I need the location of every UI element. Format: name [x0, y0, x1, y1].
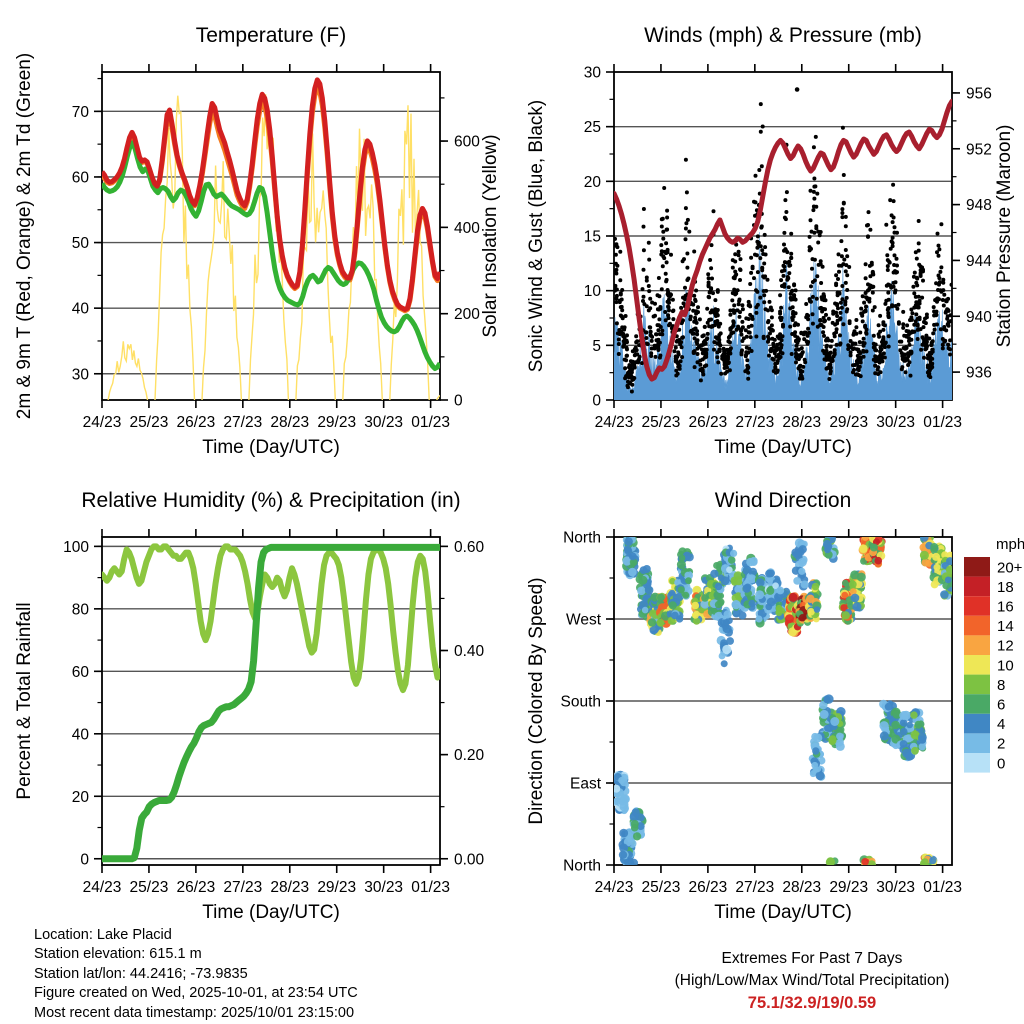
gust-point [883, 323, 887, 327]
gust-point [930, 348, 934, 352]
y-right-tick-label: 0.00 [454, 851, 485, 868]
legend-label: 2 [997, 736, 1005, 753]
gust-point [835, 314, 839, 318]
gust-point [939, 265, 943, 269]
gust-point [701, 373, 705, 377]
legend-swatch [964, 714, 990, 734]
gust-point [858, 331, 862, 335]
wind-direction-point [776, 605, 783, 612]
gust-point [904, 370, 908, 374]
x-tick-label: 30/23 [876, 414, 915, 431]
wind-direction-point [642, 607, 649, 614]
chart-title: Wind Direction [715, 489, 852, 512]
gust-point [891, 236, 895, 240]
legend-swatch [964, 557, 990, 577]
gust-point [900, 365, 904, 369]
gust-point [794, 348, 798, 352]
gust-point [779, 278, 783, 282]
y-tick-label: 80 [72, 601, 90, 618]
gust-point [821, 349, 825, 353]
legend-swatch [964, 577, 990, 597]
gust-point [707, 295, 711, 299]
y-right-tick-label: 948 [966, 197, 992, 214]
legend-swatch [964, 675, 990, 695]
gust-point [752, 276, 756, 280]
wind-direction-point [842, 611, 850, 619]
wind-direction-point [619, 829, 628, 838]
gust-point [854, 325, 858, 329]
gust-point [763, 245, 767, 249]
gust-point [754, 174, 758, 178]
gust-point [823, 307, 827, 311]
gust-point [946, 343, 950, 347]
gust-point [887, 298, 891, 302]
gust-point [756, 303, 760, 307]
gust-point [890, 213, 894, 217]
gust-point [935, 310, 939, 314]
gust-point [728, 313, 732, 317]
gust-point [740, 348, 744, 352]
gust-point [769, 306, 773, 310]
y-right-axis-label: Solar Insolation (Yellow) [480, 134, 501, 337]
gust-point [666, 292, 670, 296]
gust-point [897, 322, 901, 326]
gust-point [842, 258, 846, 262]
gust-point [812, 145, 816, 149]
gust-point [692, 294, 696, 298]
gust-point [812, 177, 816, 181]
gust-point [741, 307, 745, 311]
gust-point [764, 289, 768, 293]
wind-direction-point [730, 550, 737, 557]
legend-label: 10 [997, 657, 1014, 674]
gust-point [887, 306, 891, 310]
gust-point [863, 324, 867, 328]
gust-point [854, 318, 858, 322]
x-tick-label: 27/23 [735, 879, 774, 896]
gust-point [834, 283, 838, 287]
gust-point [877, 323, 881, 327]
gust-point [697, 345, 701, 349]
temperature-chart: Temperature (F)304050607024/2325/2326/23… [0, 0, 512, 460]
wind-direction-point [900, 719, 907, 726]
wind-direction-point [798, 558, 807, 567]
legend-swatch [964, 694, 990, 714]
gust-point [733, 260, 737, 264]
gust-point [770, 315, 774, 319]
gust-point [868, 228, 872, 232]
gust-point [738, 267, 742, 271]
gust-point [665, 216, 669, 220]
wind-direction-point [633, 832, 641, 840]
gust-point [778, 312, 782, 316]
gust-point [720, 354, 724, 358]
gust-point [694, 299, 698, 303]
gust-point [737, 250, 741, 254]
gust-point [808, 235, 812, 239]
x-tick-label: 26/23 [176, 879, 215, 896]
extremes-values: 75.1/32.9/19/0.59 [600, 992, 1024, 1014]
gust-point [811, 295, 815, 299]
wind-direction-point [870, 544, 878, 552]
gust-point [657, 276, 661, 280]
gust-point [731, 291, 735, 295]
wind-direction-point [902, 711, 911, 720]
gust-point [656, 328, 660, 332]
gust-point [683, 286, 687, 290]
gust-point [638, 355, 642, 359]
gust-point [671, 298, 675, 302]
gust-point [947, 324, 951, 328]
gust-point [916, 317, 920, 321]
gust-point [871, 309, 875, 313]
wind-direction-point [812, 583, 820, 591]
gust-point [710, 243, 714, 247]
gust-point [700, 334, 704, 338]
y-right-tick-label: 600 [454, 134, 480, 151]
gust-point [909, 315, 913, 319]
wind-direction-point [911, 747, 919, 755]
gust-point [815, 192, 819, 196]
wind-direction-point [900, 728, 908, 736]
y-right-tick-label: 956 [966, 85, 992, 102]
gust-point [937, 274, 941, 278]
gust-point [873, 371, 877, 375]
gust-point [901, 357, 905, 361]
gust-point [708, 290, 712, 294]
gust-point [886, 291, 890, 295]
gust-point [815, 297, 819, 301]
gust-point [692, 250, 696, 254]
x-tick-label: 30/23 [364, 879, 403, 896]
gust-point [837, 270, 841, 274]
gust-point [812, 190, 816, 194]
gust-point [824, 298, 828, 302]
gust-point [799, 354, 803, 358]
gust-point [809, 247, 813, 251]
gust-point [702, 351, 706, 355]
metadata-latlon: Station lat/lon: 44.2416; -73.9835 [34, 965, 358, 984]
gust-point [948, 338, 952, 342]
gust-point [768, 300, 772, 304]
gust-point [712, 209, 716, 213]
gust-point [621, 345, 625, 349]
gust-point [811, 257, 815, 261]
gust-point [694, 327, 698, 331]
wind-direction-point [862, 534, 869, 541]
wind-direction-point [816, 771, 825, 780]
gust-point [839, 239, 843, 243]
wind-direction-point [746, 558, 754, 566]
gust-point [916, 324, 920, 328]
gust-point [844, 215, 848, 219]
gust-point [861, 294, 865, 298]
gust-point [656, 348, 660, 352]
gust-point [862, 337, 866, 341]
gust-point [914, 295, 918, 299]
wind-direction-point [900, 740, 908, 748]
gust-point [791, 310, 795, 314]
extremes-title: Extremes For Past 7 Days [600, 948, 1024, 970]
legend-label: 18 [997, 579, 1014, 596]
gust-point [816, 241, 820, 245]
gust-point [766, 335, 770, 339]
gust-point [776, 359, 780, 363]
gust-point [759, 102, 763, 106]
gust-point [681, 296, 685, 300]
gust-point [907, 339, 911, 343]
gust-point [689, 315, 693, 319]
gust-point [653, 302, 657, 306]
gust-point [615, 264, 619, 268]
gust-point [932, 323, 936, 327]
gust-point [715, 350, 719, 354]
gust-point [862, 301, 866, 305]
gust-point [776, 335, 780, 339]
wind-direction-point [701, 594, 709, 602]
gust-point [891, 183, 895, 187]
gust-point [806, 342, 810, 346]
gust-point [792, 283, 796, 287]
gust-point [714, 335, 718, 339]
wind-speed-legend [964, 557, 990, 773]
wind-direction-point [685, 577, 692, 584]
gust-point [892, 271, 896, 275]
gust-point [915, 277, 919, 281]
gust-point [810, 267, 814, 271]
gust-point [782, 274, 786, 278]
gust-point [671, 317, 675, 321]
gust-point [723, 372, 727, 376]
gust-point [790, 289, 794, 293]
gust-point [755, 246, 759, 250]
gust-point [615, 294, 619, 298]
gust-point [625, 346, 629, 350]
gust-point [748, 313, 752, 317]
gust-point [785, 190, 789, 194]
gust-point [703, 364, 707, 368]
gust-point [829, 345, 833, 349]
gust-point [679, 306, 683, 310]
gust-point [876, 365, 880, 369]
gust-point [751, 266, 755, 270]
gust-point [948, 353, 952, 357]
gust-point [760, 266, 764, 270]
gust-point [778, 293, 782, 297]
gust-point [754, 288, 758, 292]
gust-point [888, 198, 892, 202]
gust-point [684, 227, 688, 231]
x-tick-label: 25/23 [130, 414, 169, 431]
gust-point [730, 298, 734, 302]
gust-point [790, 352, 794, 356]
gust-point [890, 304, 894, 308]
wind-direction-point [631, 820, 639, 828]
gust-point [822, 334, 826, 338]
gust-point [809, 284, 813, 288]
gust-point [922, 325, 926, 329]
gust-point [909, 350, 913, 354]
x-tick-label: 27/23 [223, 879, 262, 896]
gust-point [811, 312, 815, 316]
gust-point [652, 315, 656, 319]
gust-point [617, 338, 621, 342]
x-tick-label: 26/23 [688, 414, 727, 431]
gust-point [873, 305, 877, 309]
wind-direction-point [755, 590, 764, 599]
wind-direction-point [934, 564, 941, 571]
wind-direction-point [618, 777, 625, 784]
gust-point [649, 333, 653, 337]
gust-point [694, 312, 698, 316]
gust-point [860, 312, 864, 316]
gust-point [672, 349, 676, 353]
legend-swatch [964, 655, 990, 675]
gust-point [927, 369, 931, 373]
gust-point [794, 360, 798, 364]
gust-point [696, 338, 700, 342]
gust-point [800, 377, 804, 381]
gust-point [694, 289, 698, 293]
gust-point [922, 356, 926, 360]
gust-point [839, 341, 843, 345]
gust-point [829, 351, 833, 355]
gust-point [836, 277, 840, 281]
gust-point [618, 250, 622, 254]
wind-direction-point [836, 742, 845, 751]
gust-point [785, 250, 789, 254]
legend-title: mph [996, 536, 1024, 553]
gust-point [872, 358, 876, 362]
gust-point [629, 372, 633, 376]
gust-point [927, 354, 931, 358]
gust-point [845, 273, 849, 277]
gust-point [789, 252, 793, 256]
gust-point [740, 352, 744, 356]
gust-point [905, 329, 909, 333]
gust-point [664, 272, 668, 276]
gust-point [881, 328, 885, 332]
y-right-tick-label: 952 [966, 141, 992, 158]
wind-direction-point [719, 653, 726, 660]
x-axis-label: Time (Day/UTC) [202, 437, 340, 458]
gust-point [833, 348, 837, 352]
gust-point [886, 314, 890, 318]
gust-point [726, 356, 730, 360]
wind-direction-point [734, 576, 743, 585]
gust-point [761, 252, 765, 256]
gust-point [835, 343, 839, 347]
gust-point [703, 325, 707, 329]
gust-point [618, 299, 622, 303]
gust-point [871, 271, 875, 275]
gust-point [614, 300, 618, 304]
gust-point [901, 322, 905, 326]
wind-direction-point [721, 576, 730, 585]
gust-point [799, 331, 803, 335]
gust-point [750, 349, 754, 353]
gust-point [658, 356, 662, 360]
gust-point [793, 323, 797, 327]
gust-point [649, 354, 653, 358]
gust-point [702, 340, 706, 344]
y-tick-label: 20 [72, 789, 90, 806]
wind-direction-point [812, 747, 819, 754]
gust-point [941, 278, 945, 282]
gust-point [865, 332, 869, 336]
wind-direction-point [728, 556, 736, 564]
wind-direction-point [807, 608, 815, 616]
gust-point [918, 299, 922, 303]
y-tick-label: East [570, 776, 602, 793]
gust-point [926, 364, 930, 368]
y-tick-label: 20 [584, 174, 602, 191]
gust-point [715, 355, 719, 359]
gust-point [709, 266, 713, 270]
gust-point [737, 253, 741, 257]
gust-point [945, 299, 949, 303]
legend-label: 8 [997, 677, 1005, 694]
gust-point [705, 307, 709, 311]
gust-point [738, 315, 742, 319]
gust-point [873, 348, 877, 352]
gust-point [674, 369, 678, 373]
gust-point [844, 269, 848, 273]
gust-point [644, 336, 648, 340]
gust-point [923, 317, 927, 321]
gust-point [927, 374, 931, 378]
y-right-tick-label: 940 [966, 309, 992, 326]
gust-point [696, 352, 700, 356]
gust-point [865, 349, 869, 353]
gust-point [843, 303, 847, 307]
gust-point [804, 302, 808, 306]
gust-point [759, 130, 763, 134]
gust-point [811, 208, 815, 212]
wind-direction-point [932, 553, 940, 561]
gust-point [778, 316, 782, 320]
wind-direction-point [765, 570, 773, 578]
legend-label: 0 [997, 755, 1005, 772]
gust-point [731, 324, 735, 328]
gust-point [917, 219, 921, 223]
wind-direction-point [724, 610, 732, 618]
gust-point [745, 364, 749, 368]
wind-direction-point [814, 606, 821, 613]
gust-point [939, 222, 943, 226]
gust-point [846, 347, 850, 351]
gust-point [744, 350, 748, 354]
wind-direction-point [920, 551, 929, 560]
gust-point [717, 333, 721, 337]
gust-point [915, 283, 919, 287]
station-metadata: Location: Lake Placid Station elevation:… [34, 926, 358, 1023]
gust-point [818, 319, 822, 323]
gust-point [815, 274, 819, 278]
gust-point [685, 252, 689, 256]
y-right-tick-label: 944 [966, 253, 992, 270]
gust-point [886, 268, 890, 272]
gust-point [853, 329, 857, 333]
gust-point [895, 257, 899, 261]
gust-point [731, 266, 735, 270]
y-right-tick-label: 936 [966, 365, 992, 382]
gust-point [680, 336, 684, 340]
gust-point [728, 368, 732, 372]
wind-direction-point [861, 858, 869, 866]
wind-direction-point [640, 566, 648, 574]
gust-point [756, 234, 760, 238]
